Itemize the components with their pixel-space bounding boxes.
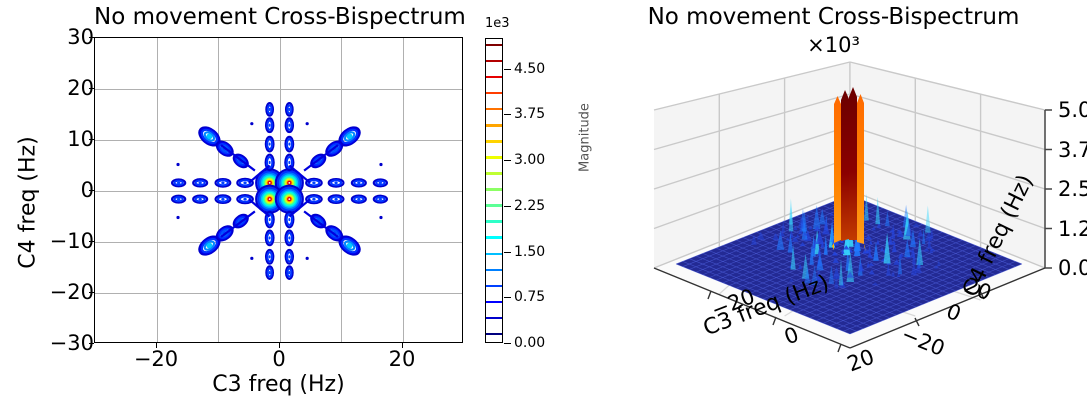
colorbar-level-line: [486, 124, 502, 126]
colorbar-level-line: [486, 92, 502, 94]
contour-filled-peak: [269, 236, 271, 239]
colorbar-level-line: [486, 269, 502, 271]
contour-filled-peak: [357, 182, 360, 185]
contour-ytick-label: −10: [34, 229, 94, 253]
colorbar-tick-mark: [504, 343, 511, 344]
colorbar-level-line: [486, 188, 502, 190]
contour-filled-peak: [269, 198, 271, 200]
contour-filled-peak: [269, 271, 271, 274]
contour-xtick-label: 20: [362, 347, 442, 371]
colorbar-gradient: [485, 38, 503, 343]
contour-filled-peak: [177, 198, 180, 201]
contour-filled-peak: [379, 182, 382, 185]
figure-canvas: No movement Cross-Bispectrum: [0, 0, 1087, 414]
contour-filled-peak: [221, 198, 224, 201]
surface3d-ztick-label: 2.5: [1058, 177, 1087, 201]
colorbar-tick-mark: [504, 69, 511, 70]
contour-ytick-label: −20: [34, 280, 94, 304]
colorbar-level-line: [486, 333, 502, 335]
surface3d-ztick-label: 5.0: [1058, 98, 1087, 122]
contour-filled-peak: [288, 124, 290, 127]
contour-plot-data: [95, 38, 463, 343]
surface3d-ztick-label: 1.2: [1058, 217, 1087, 241]
colorbar-level-line: [486, 204, 502, 206]
contour-filled-peak: [243, 182, 246, 185]
colorbar-level-line: [486, 301, 502, 303]
colorbar-level-line: [486, 285, 502, 287]
colorbar-level-line: [486, 140, 502, 142]
contour-isolated-dot: [176, 163, 179, 166]
contour-filled-peak: [312, 198, 315, 201]
colorbar-tick-mark: [504, 206, 511, 207]
contour-filled-peak: [288, 198, 290, 200]
contour-isolated-dot: [306, 122, 309, 125]
contour-axes-area: [94, 37, 463, 343]
colorbar-level-line: [486, 253, 502, 255]
contour-filled-peak: [312, 182, 315, 185]
colorbar-tick-label: 0.75: [514, 289, 545, 305]
colorbar[interactable]: 0.000.751.502.253.003.754.50: [485, 38, 503, 343]
contour-filled-peak: [269, 182, 271, 184]
contour-filled-peak: [269, 161, 271, 164]
contour-ytick-label: 20: [34, 76, 94, 100]
contour-filled-peak: [334, 198, 337, 201]
contour-filled-peak: [288, 255, 290, 258]
surface3d-z-axis: [1045, 110, 1052, 268]
colorbar-level-line: [486, 172, 502, 174]
colorbar-tick-mark: [504, 114, 511, 115]
contour-ytick-label: −30: [34, 331, 94, 355]
contour-filled-peak: [269, 142, 271, 145]
contour-filled-peak: [357, 198, 360, 201]
contour-isolated-dot: [250, 122, 253, 125]
colorbar-level-line: [486, 236, 502, 238]
colorbar-tick-label: 4.50: [514, 61, 545, 77]
colorbar-tick-label: 2.25: [514, 198, 545, 214]
contour-filled-peak: [269, 108, 271, 111]
contour-filled-peak: [269, 124, 271, 127]
surface3d-subplot: No movement Cross-Bispectrum ×10³: [580, 0, 1087, 414]
contour-filled-peak: [198, 182, 201, 185]
colorbar-tick-mark: [504, 160, 511, 161]
colorbar-tick-mark: [504, 252, 511, 253]
contour-xtick-label: 0: [239, 347, 319, 371]
contour-filled-peak: [269, 218, 271, 221]
colorbar-level-line: [486, 156, 502, 158]
surface3d-ztick-label: 3.7: [1058, 138, 1087, 162]
contour-ytick-label: 0: [34, 178, 94, 202]
contour-ytick-label: 10: [34, 127, 94, 151]
colorbar-tick-label: 0.00: [514, 335, 545, 351]
contour-filled-peak: [288, 236, 290, 239]
colorbar-level-line: [486, 60, 502, 62]
colorbar-level-line: [486, 44, 502, 46]
contour-isolated-dot: [306, 257, 309, 260]
contour-filled-peak: [221, 182, 224, 185]
contour-title: No movement Cross-Bispectrum: [94, 2, 464, 32]
contour-filled-peak: [288, 218, 290, 221]
colorbar-tick-mark: [504, 297, 511, 298]
contour-isolated-dot: [250, 257, 253, 260]
contour-x-axis-label: C3 freq (Hz): [94, 372, 463, 397]
contour-filled-peak: [288, 271, 290, 274]
contour-filled-peak: [198, 198, 201, 201]
colorbar-level-line: [486, 317, 502, 319]
contour-filled-peak: [288, 108, 290, 111]
contour-ytick-label: 30: [34, 25, 94, 49]
colorbar-exponent-label: 1e3: [485, 16, 510, 31]
contour-isolated-dot: [379, 163, 382, 166]
contour-filled-peak: [177, 182, 180, 185]
colorbar-tick-label: 3.75: [514, 106, 545, 122]
contour-filled-peak: [334, 182, 337, 185]
colorbar-level-line: [486, 108, 502, 110]
contour-xtick-label: −20: [116, 347, 196, 371]
colorbar-level-line: [486, 220, 502, 222]
contour-filled-peak: [288, 142, 290, 145]
contour-filled-peak: [288, 182, 290, 184]
contour-isolated-dot: [176, 216, 179, 219]
contour-y-axis-label: C4 freq (Hz): [16, 88, 41, 318]
surface3d-peak-spikes: [832, 87, 866, 252]
colorbar-tick-label: 1.50: [514, 244, 545, 260]
colorbar-level-line: [486, 76, 502, 78]
contour-filled-peak: [243, 198, 246, 201]
colorbar-tick-label: 3.00: [514, 152, 545, 168]
contour-filled-peak: [379, 198, 382, 201]
contour-filled-peak: [288, 161, 290, 164]
contour-filled-peak: [269, 255, 271, 258]
contour-isolated-dot: [379, 216, 382, 219]
surface3d-ztick-label: 0.0: [1058, 256, 1087, 280]
